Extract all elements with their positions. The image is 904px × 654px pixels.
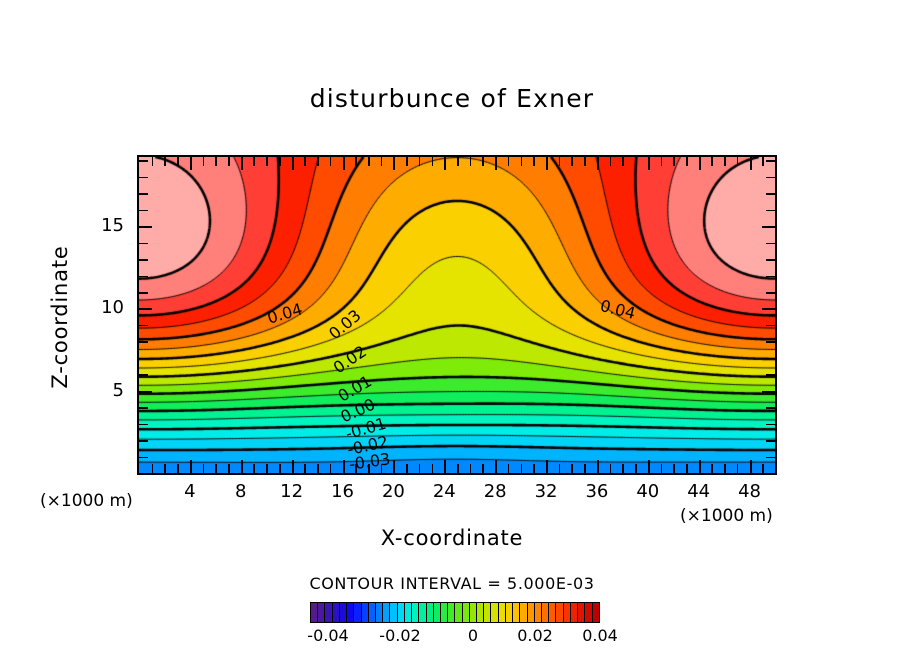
x-tick-bottom [508,464,510,473]
x-unit-left-label: (×1000 m) [40,491,133,511]
x-tick-label: 4 [167,481,213,502]
colorbar-cell [477,603,484,622]
colorbar-cell [513,603,520,622]
colorbar-cell [528,603,535,622]
x-tick-top [584,157,586,166]
x-tick-bottom [304,464,306,473]
x-tick-bottom [406,464,408,473]
x-tick-top [266,157,268,166]
y-tick-left [139,259,148,261]
figure-canvas: disturbunce of Exner 4812162024283236404… [0,0,904,654]
x-tick-top [304,157,306,166]
colorbar-tick-label: -0.02 [370,626,430,645]
x-tick-bottom [330,464,332,473]
x-tick-top [546,157,548,170]
y-tick-right [766,160,775,162]
colorbar-cell [347,603,354,622]
contour-plot-area [137,155,777,475]
x-tick-top [470,157,472,166]
x-tick-label: 24 [421,481,467,502]
y-tick-left [139,407,148,409]
colorbar-cell [362,603,369,622]
colorbar-cell [549,603,556,622]
colorbar-tick-label: 0 [443,626,503,645]
colorbar-cell [398,603,405,622]
x-tick-bottom [661,464,663,473]
x-tick-bottom [521,464,523,473]
x-tick-top [457,157,459,166]
colorbar-cell [455,603,462,622]
y-tick-right [766,440,775,442]
x-tick-bottom [215,464,217,473]
x-tick-bottom [432,464,434,473]
y-tick-right [762,226,775,228]
x-tick-top [571,157,573,166]
x-tick-top [152,157,154,166]
y-tick-right [766,358,775,360]
y-tick-left [139,308,152,310]
colorbar-cell [535,603,542,622]
colorbar-cell [325,603,332,622]
y-tick-left [139,292,148,294]
colorbar-tick-label: -0.04 [298,626,358,645]
x-tick-bottom [419,464,421,473]
colorbar-cell [470,603,477,622]
x-tick-bottom [164,464,166,473]
y-tick-left [139,193,148,195]
x-tick-top [419,157,421,166]
x-tick-bottom [228,464,230,473]
y-tick-left [139,210,148,212]
x-tick-bottom [343,460,345,473]
colorbar-tick-label: 0.04 [570,626,630,645]
y-tick-label: 5 [92,380,124,401]
x-tick-top [177,157,179,166]
x-tick-top [253,157,255,166]
x-tick-label: 44 [676,481,722,502]
colorbar-cell [383,603,390,622]
x-tick-top [559,157,561,166]
y-tick-label: 10 [92,297,124,318]
x-tick-bottom [482,464,484,473]
colorbar-cell [448,603,455,622]
y-tick-right [766,424,775,426]
y-tick-left [139,457,148,459]
x-tick-top [610,157,612,166]
x-tick-bottom [737,464,739,473]
page-title: disturbunce of Exner [0,84,904,113]
y-tick-left [139,391,152,393]
x-tick-top [533,157,535,166]
colorbar-tick-label: 0.02 [505,626,565,645]
x-tick-bottom [699,460,701,473]
x-tick-bottom [648,460,650,473]
y-tick-right [766,374,775,376]
x-tick-top [661,157,663,166]
x-tick-top [444,157,446,170]
y-tick-left [139,243,148,245]
colorbar-cell [593,603,599,622]
colorbar-cell [412,603,419,622]
x-tick-bottom [177,464,179,473]
x-tick-bottom [444,460,446,473]
colorbar-cell [542,603,549,622]
x-tick-top [317,157,319,166]
x-tick-bottom [610,464,612,473]
colorbar-cell [556,603,563,622]
x-tick-top [597,157,599,170]
colorbar-cell [419,603,426,622]
x-tick-label: 40 [625,481,671,502]
x-tick-top [406,157,408,166]
y-tick-right [766,177,775,179]
x-tick-top [203,157,205,166]
x-tick-top [432,157,434,166]
x-tick-label: 8 [218,481,264,502]
x-tick-bottom [253,464,255,473]
colorbar-cell [434,603,441,622]
contour-field [139,157,775,473]
x-tick-bottom [470,464,472,473]
x-tick-top [711,157,713,166]
x-tick-top [648,157,650,170]
colorbar-cell [564,603,571,622]
y-tick-left [139,374,148,376]
x-tick-top [393,157,395,170]
colorbar-cell [506,603,513,622]
x-tick-bottom [571,464,573,473]
x-tick-top [482,157,484,166]
y-tick-left [139,226,152,228]
x-tick-top [521,157,523,166]
colorbar-cell [491,603,498,622]
colorbar-cell [311,603,318,622]
colorbar-tick-labels: -0.04-0.0200.020.04 [280,626,630,648]
colorbar-cell [578,603,585,622]
x-tick-top [368,157,370,166]
y-tick-left [139,276,148,278]
x-tick-top [762,157,764,166]
x-tick-bottom [762,464,764,473]
x-tick-label: 32 [523,481,569,502]
x-tick-bottom [584,464,586,473]
x-tick-bottom [152,464,154,473]
y-tick-right [766,325,775,327]
x-tick-label: 16 [320,481,366,502]
y-tick-left [139,358,148,360]
x-tick-bottom [622,464,624,473]
x-tick-bottom [597,460,599,473]
x-tick-top [495,157,497,170]
colorbar-cell [333,603,340,622]
y-tick-right [766,210,775,212]
x-tick-label: 48 [727,481,773,502]
x-tick-bottom [279,464,281,473]
x-tick-top [724,157,726,166]
x-tick-bottom [711,464,713,473]
colorbar-cell [427,603,434,622]
x-tick-label: 12 [269,481,315,502]
colorbar-cell [441,603,448,622]
colorbar [310,602,600,623]
y-tick-right [762,308,775,310]
colorbar-cell [340,603,347,622]
colorbar-cell [354,603,361,622]
x-tick-bottom [292,460,294,473]
x-tick-top [355,157,357,166]
colorbar-cell [499,603,506,622]
x-tick-bottom [724,464,726,473]
x-tick-bottom [495,460,497,473]
x-tick-bottom [750,460,752,473]
x-tick-bottom [457,464,459,473]
x-tick-bottom [635,464,637,473]
x-tick-top [241,157,243,170]
x-tick-top [215,157,217,166]
x-tick-top [737,157,739,166]
colorbar-cell [484,603,491,622]
y-tick-right [766,276,775,278]
x-tick-top [508,157,510,166]
x-tick-bottom [317,464,319,473]
y-tick-right [766,243,775,245]
colorbar-cell [405,603,412,622]
colorbar-cell [585,603,592,622]
x-tick-top [343,157,345,170]
x-tick-top [164,157,166,166]
x-tick-bottom [190,460,192,473]
x-unit-right-label: (×1000 m) [680,506,773,526]
y-tick-right [766,341,775,343]
colorbar-cell [463,603,470,622]
x-tick-bottom [203,464,205,473]
x-tick-top [279,157,281,166]
y-tick-right [766,259,775,261]
x-tick-top [622,157,624,166]
x-tick-bottom [241,460,243,473]
y-tick-right [762,391,775,393]
y-tick-right [766,292,775,294]
x-tick-bottom [559,464,561,473]
x-tick-bottom [533,464,535,473]
x-tick-top [228,157,230,166]
x-tick-top [673,157,675,166]
y-tick-right [766,457,775,459]
x-tick-top [381,157,383,166]
y-tick-left [139,177,148,179]
x-tick-bottom [266,464,268,473]
x-tick-top [686,157,688,166]
y-tick-left [139,440,148,442]
x-tick-bottom [546,460,548,473]
x-tick-label: 28 [472,481,518,502]
x-tick-top [699,157,701,170]
y-tick-label: 15 [92,215,124,236]
y-tick-left [139,160,148,162]
x-tick-top [292,157,294,170]
y-tick-right [766,407,775,409]
x-tick-bottom [686,464,688,473]
colorbar-cell [390,603,397,622]
y-tick-right [766,193,775,195]
x-tick-bottom [393,460,395,473]
x-tick-top [750,157,752,170]
x-tick-top [190,157,192,170]
x-tick-top [330,157,332,166]
x-tick-label: 20 [370,481,416,502]
contour-interval-label: CONTOUR INTERVAL = 5.000E-03 [0,574,904,593]
y-tick-left [139,341,148,343]
colorbar-cell [318,603,325,622]
y-axis-title: Z-coordinate [48,217,72,417]
x-axis-title: X-coordinate [0,526,904,550]
colorbar-cell [376,603,383,622]
x-tick-bottom [673,464,675,473]
colorbar-cell [520,603,527,622]
y-tick-left [139,325,148,327]
colorbar-cell [571,603,578,622]
colorbar-cell [369,603,376,622]
x-tick-top [635,157,637,166]
x-tick-label: 36 [574,481,620,502]
y-tick-left [139,424,148,426]
